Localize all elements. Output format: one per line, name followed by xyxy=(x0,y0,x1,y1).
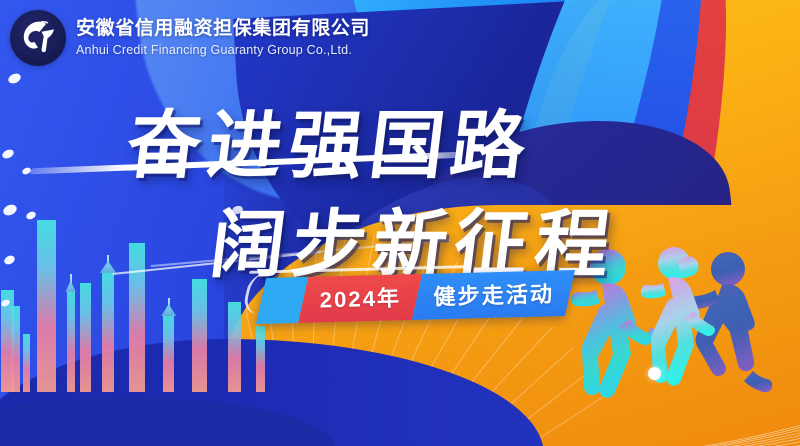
headline-line-1-row: 奋进强国路 xyxy=(0,86,700,193)
company-name-en: Anhui Credit Financing Guaranty Group Co… xyxy=(76,44,370,57)
skyline-building xyxy=(67,290,75,392)
skyline-building xyxy=(228,302,241,392)
skyline-building xyxy=(163,314,174,392)
company-g-logo-icon xyxy=(10,10,66,66)
skyline-building xyxy=(23,334,30,393)
banner-year-label: 2024年 xyxy=(319,280,401,314)
company-name-cn: 安徽省信用融资担保集团有限公司 xyxy=(76,19,370,38)
poster-canvas: 安徽省信用融资担保集团有限公司 Anhui Credit Financing G… xyxy=(0,0,800,446)
banner-event-label: 健步走活动 xyxy=(433,277,555,312)
brand-names: 安徽省信用融资担保集团有限公司 Anhui Credit Financing G… xyxy=(76,19,370,57)
skyline-building xyxy=(192,279,207,393)
headline-block: 奋进强国路 阔步新征程 xyxy=(0,86,700,292)
event-banner: 2024年 健步走活动 xyxy=(256,270,575,324)
skyline-building xyxy=(11,306,20,392)
ball-highlight-icon xyxy=(648,367,661,380)
banner-event-segment: 健步走活动 xyxy=(412,270,575,320)
headline-line-1: 奋进强国路 xyxy=(121,86,539,193)
banner-year-segment: 2024年 xyxy=(298,274,422,323)
skyline-building xyxy=(256,326,265,393)
skyline-building xyxy=(80,283,91,393)
brand-header: 安徽省信用融资担保集团有限公司 Anhui Credit Financing G… xyxy=(10,10,370,66)
